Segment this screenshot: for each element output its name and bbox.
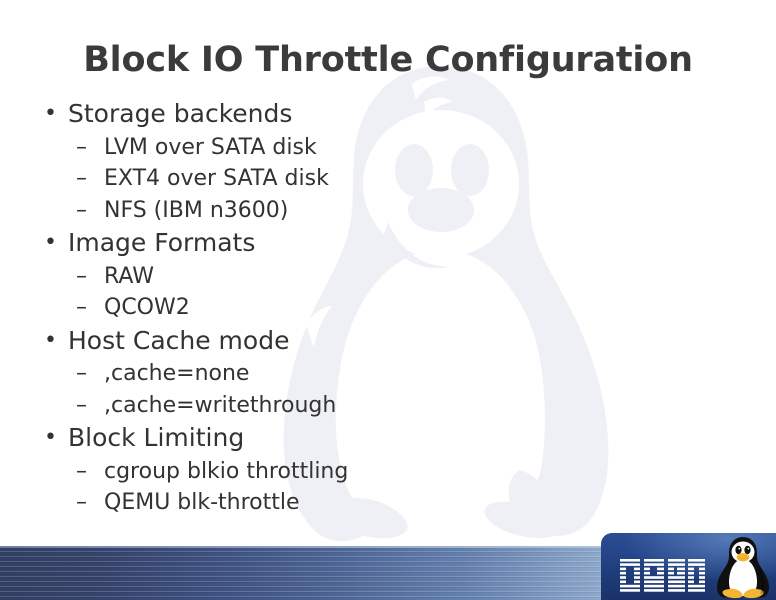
bullet-level1: • Image Formats bbox=[0, 226, 600, 261]
bullet-level2: – LVM over SATA disk bbox=[0, 132, 600, 164]
bullet-text: EXT4 over SATA disk bbox=[104, 166, 329, 191]
bullet-text: QEMU blk-throttle bbox=[104, 490, 300, 515]
bullet-marker-icon: • bbox=[44, 97, 57, 132]
bullet-level1: • Block Limiting bbox=[0, 421, 600, 456]
bullet-level2: – NFS (IBM n3600) bbox=[0, 195, 600, 227]
dash-marker-icon: – bbox=[76, 261, 87, 293]
dash-marker-icon: – bbox=[76, 456, 87, 488]
bullet-marker-icon: • bbox=[44, 226, 57, 261]
bullet-text: Block Limiting bbox=[68, 423, 244, 452]
slide-title: Block IO Throttle Configuration bbox=[0, 40, 776, 80]
ibm-logo-icon bbox=[620, 559, 705, 592]
slide-body: • Storage backends – LVM over SATA disk … bbox=[0, 97, 600, 519]
dash-marker-icon: – bbox=[76, 358, 87, 390]
bullet-level1: • Storage backends bbox=[0, 97, 600, 132]
bullet-text: NFS (IBM n3600) bbox=[104, 198, 288, 223]
dash-marker-icon: – bbox=[76, 292, 87, 324]
bullet-marker-icon: • bbox=[44, 324, 57, 359]
bullet-level1: • Host Cache mode bbox=[0, 324, 600, 359]
bullet-level2: – EXT4 over SATA disk bbox=[0, 163, 600, 195]
bullet-level2: – ,cache=writethrough bbox=[0, 390, 600, 422]
slide: Block IO Throttle Configuration • Storag… bbox=[0, 0, 776, 600]
bullet-text: ,cache=writethrough bbox=[104, 393, 336, 418]
bullet-level2: – QEMU blk-throttle bbox=[0, 487, 600, 519]
bullet-text: RAW bbox=[104, 264, 154, 289]
bullet-level2: – ,cache=none bbox=[0, 358, 600, 390]
bullet-level2: – RAW bbox=[0, 261, 600, 293]
bullet-text: Image Formats bbox=[68, 228, 255, 257]
bullet-text: QCOW2 bbox=[104, 295, 190, 320]
bullet-level2: – QCOW2 bbox=[0, 292, 600, 324]
bullet-text: ,cache=none bbox=[104, 361, 249, 386]
bullet-text: Host Cache mode bbox=[68, 326, 289, 355]
bullet-text: cgroup blkio throttling bbox=[104, 459, 348, 484]
dash-marker-icon: – bbox=[76, 390, 87, 422]
bullet-text: LVM over SATA disk bbox=[104, 135, 317, 160]
bullet-text: Storage backends bbox=[68, 99, 292, 128]
dash-marker-icon: – bbox=[76, 487, 87, 519]
bullet-marker-icon: • bbox=[44, 421, 57, 456]
bullet-level2: – cgroup blkio throttling bbox=[0, 456, 600, 488]
tux-logo-icon bbox=[715, 535, 771, 599]
dash-marker-icon: – bbox=[76, 132, 87, 164]
dash-marker-icon: – bbox=[76, 195, 87, 227]
dash-marker-icon: – bbox=[76, 163, 87, 195]
footer-logo-panel bbox=[601, 533, 776, 600]
